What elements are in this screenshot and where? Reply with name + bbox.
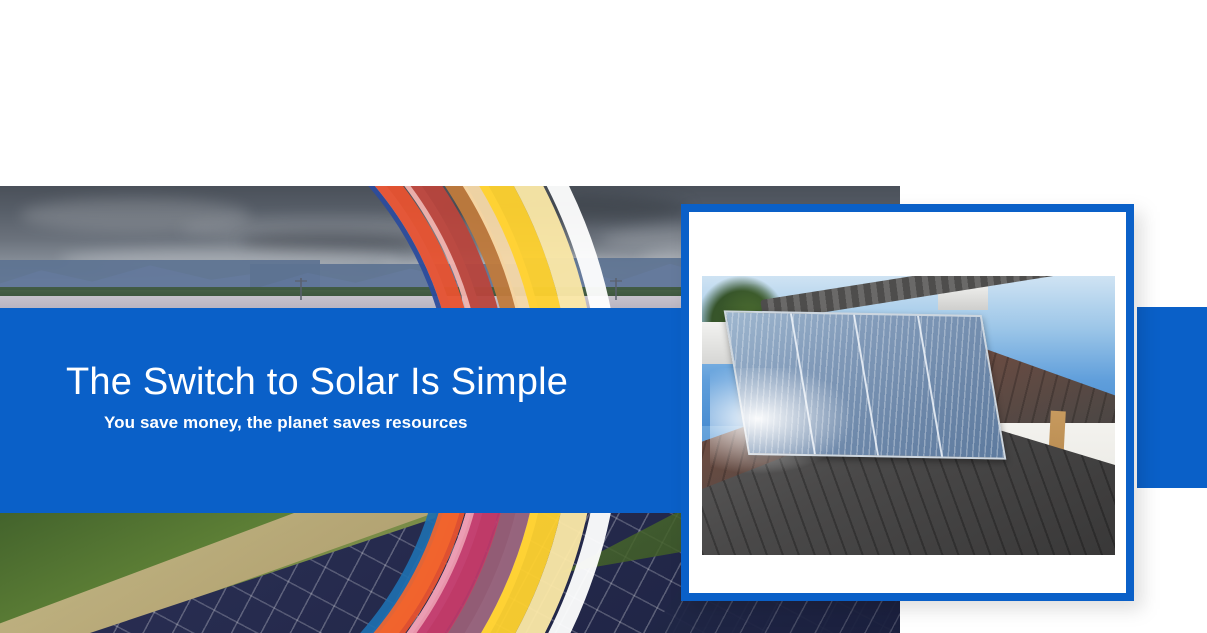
slide-root: The Switch to Solar Is Simple You save m…	[0, 0, 1207, 633]
title-banner: The Switch to Solar Is Simple You save m…	[0, 308, 690, 513]
right-blue-tab	[1137, 307, 1207, 488]
cloud-shape	[430, 194, 690, 224]
power-pylon	[460, 278, 462, 300]
photo-card	[681, 204, 1134, 601]
power-pylon	[300, 278, 302, 300]
page-subtitle: You save money, the planet saves resourc…	[104, 413, 468, 433]
page-title: The Switch to Solar Is Simple	[66, 361, 568, 404]
power-pylon	[615, 278, 617, 300]
top-white-margin	[0, 0, 1207, 186]
photo-sun-flare	[710, 368, 860, 478]
rooftop-solar-photo	[702, 276, 1115, 555]
